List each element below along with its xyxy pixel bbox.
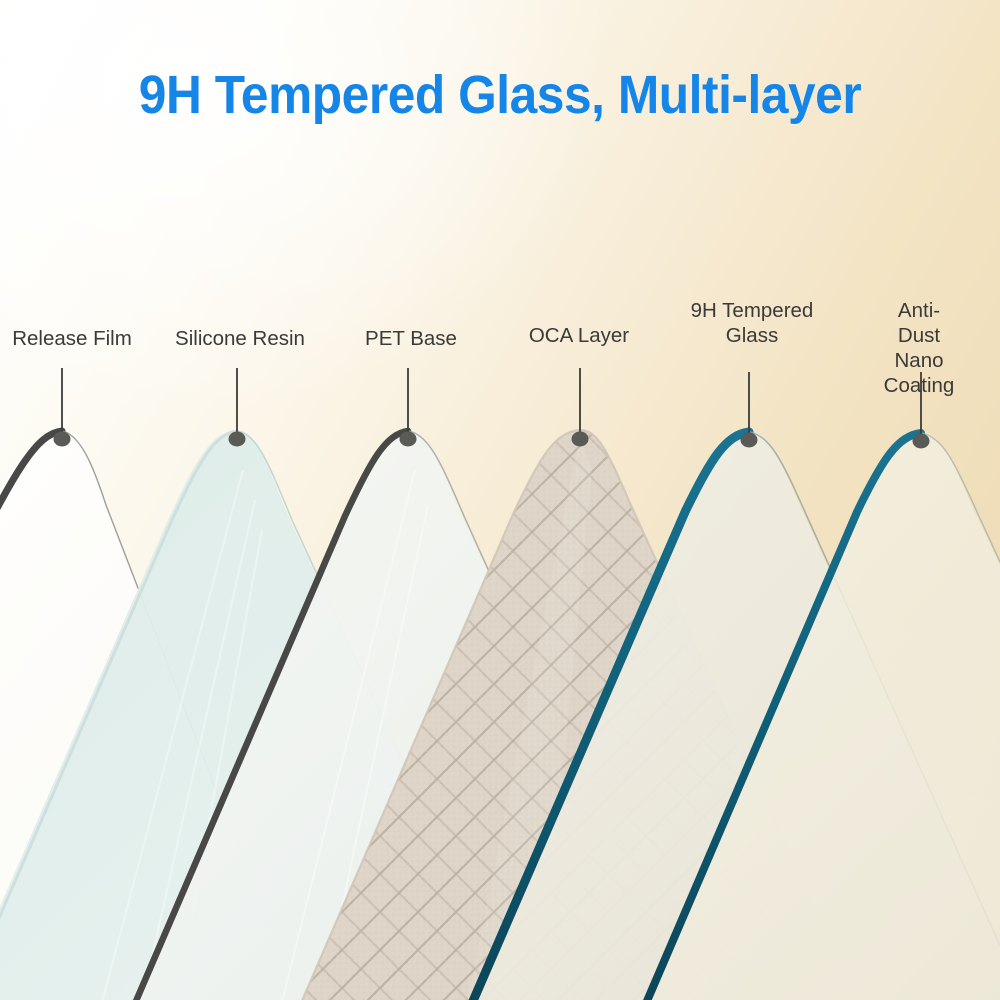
layer-label-oca-layer: OCA Layer	[529, 323, 629, 348]
product-infographic: 9H Tempered Glass, Multi-layer Release F…	[0, 0, 1000, 1000]
leader-pet-base	[400, 368, 417, 447]
layer-label-pet-base: PET Base	[365, 326, 457, 351]
layer-label-9h-tempered-glass: 9H Tempered Glass	[691, 298, 814, 348]
layer-label-silicone-resin: Silicone Resin	[175, 326, 305, 351]
layer-label-release-film: Release Film	[12, 326, 132, 351]
layer-label-anti-dust-nano-coating: Anti-Dust Nano Coating	[879, 298, 960, 398]
layer-stack-illustration	[0, 0, 1000, 1000]
leader-9h-tempered-glass	[741, 372, 758, 448]
leader-oca-layer	[572, 368, 589, 447]
page-title: 9H Tempered Glass, Multi-layer	[40, 64, 960, 126]
callout-leaders	[54, 368, 930, 449]
leader-silicone-resin	[229, 368, 246, 447]
leader-release-film	[54, 368, 71, 447]
